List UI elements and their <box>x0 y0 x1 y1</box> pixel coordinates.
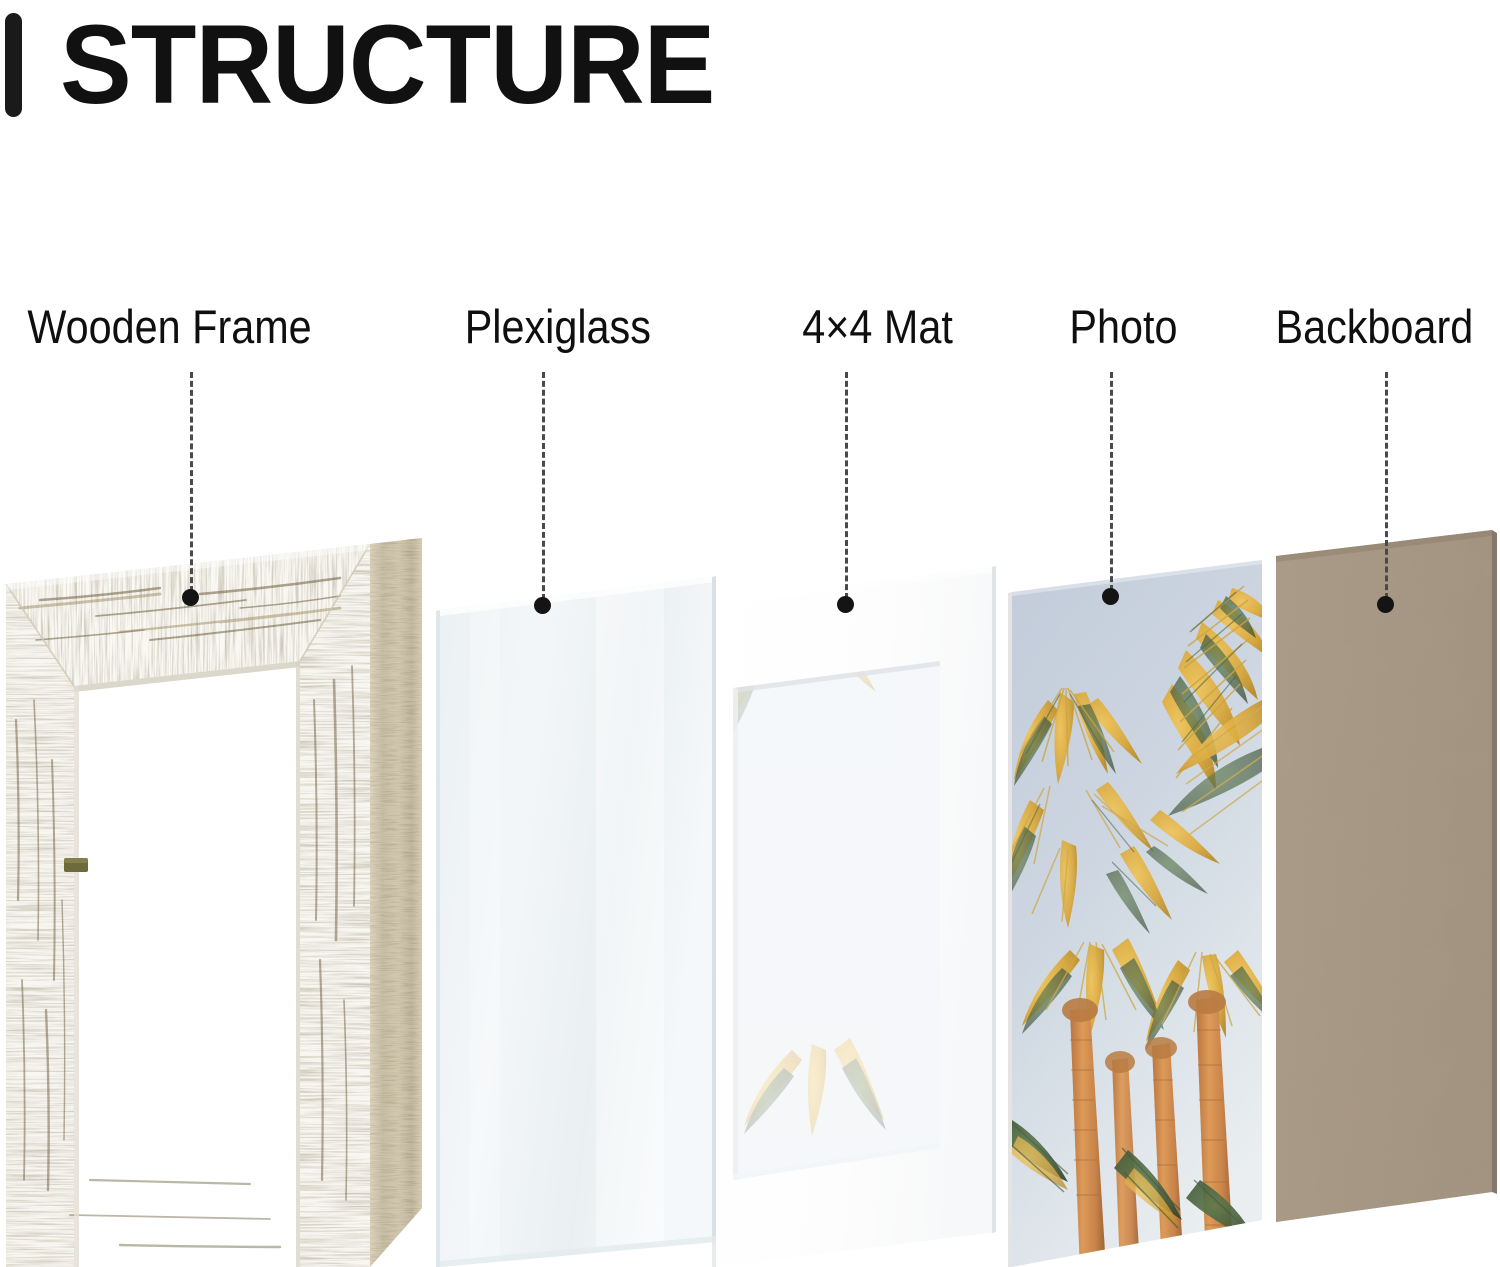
layer-mat <box>700 566 996 1267</box>
callout-label-mat[interactable]: 4×4 Mat <box>802 303 953 350</box>
leader-dot-backboard <box>1377 596 1394 613</box>
leader-line-photo <box>1110 372 1113 591</box>
layer-wooden-frame <box>6 538 422 1267</box>
exploded-frame-diagram <box>0 0 1500 1267</box>
leader-dot-mat <box>837 596 854 613</box>
layer-plexiglass <box>436 576 716 1267</box>
callout-label-plexiglass[interactable]: Plexiglass <box>465 303 651 350</box>
callout-label-wooden-frame[interactable]: Wooden Frame <box>27 303 311 350</box>
leader-line-wooden-frame <box>190 372 193 592</box>
leader-line-plexiglass <box>542 372 545 600</box>
callout-label-photo[interactable]: Photo <box>1069 303 1177 350</box>
structure-infographic-page: STRUCTURE <box>0 0 1500 1267</box>
leader-dot-plexiglass <box>534 597 551 614</box>
leader-line-mat <box>845 372 848 599</box>
leader-dot-wooden-frame <box>182 589 199 606</box>
layer-backboard <box>1276 530 1497 1222</box>
leader-line-backboard <box>1385 372 1388 599</box>
leader-dot-photo <box>1102 588 1119 605</box>
callout-label-backboard[interactable]: Backboard <box>1275 303 1473 350</box>
layer-photo <box>1000 540 1282 1267</box>
